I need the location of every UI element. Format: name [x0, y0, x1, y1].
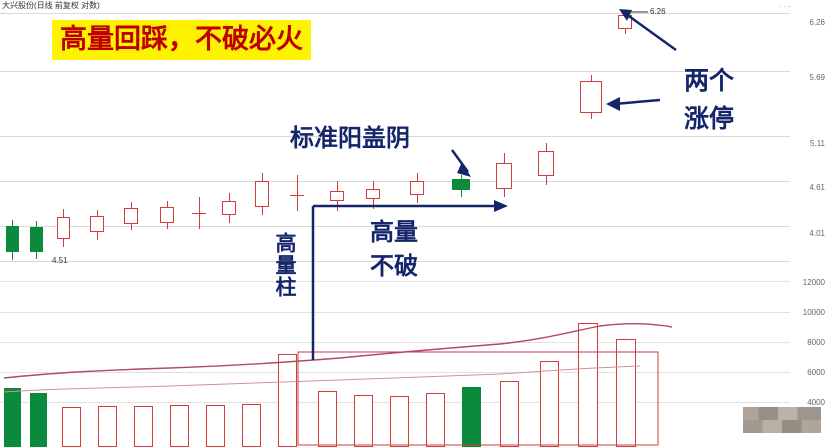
volume-bar	[98, 406, 117, 447]
volume-bar	[540, 361, 559, 447]
annotation-two-limit-ups-line2: 涨停	[684, 100, 734, 138]
window-titlebar: 大兴股份(日线 前复权 对数) ···	[0, 0, 829, 11]
volume-bar	[616, 339, 636, 447]
volume-tick: 10000	[803, 308, 825, 317]
candle-standard-yang-cover-yin	[452, 179, 470, 190]
candle	[290, 189, 304, 203]
candle	[330, 191, 344, 201]
mosaic-watermark	[743, 407, 821, 433]
annotation-standard-yang-cover-yin: 标准阳盖阴	[290, 118, 410, 153]
candle	[538, 151, 554, 176]
headline-banner: 高量回踩，不破必火	[52, 20, 311, 60]
candle-limit-up-1	[580, 81, 602, 113]
candle	[222, 201, 236, 215]
candle	[410, 181, 424, 195]
annotation-high-volume-bar: 高量柱	[272, 232, 298, 298]
candle	[57, 217, 70, 239]
volume-bar	[30, 393, 47, 447]
volume-bar	[170, 405, 189, 447]
candle	[124, 208, 138, 224]
volume-bar	[462, 387, 481, 447]
volume-bar	[242, 404, 261, 447]
volume-bar	[4, 388, 21, 447]
candle	[90, 216, 104, 232]
gridline	[0, 372, 790, 373]
candle	[366, 189, 380, 199]
volume-bar	[578, 323, 598, 447]
volume-bar	[206, 405, 225, 447]
candle	[496, 163, 512, 189]
price-tick: 5.69	[809, 73, 825, 82]
annotation-two-limit-ups: 两个 涨停	[684, 62, 734, 138]
volume-bar	[134, 406, 153, 447]
volume-chart-pane[interactable]	[0, 268, 790, 447]
price-tag-low: 4.51	[52, 256, 68, 265]
volume-tick: 8000	[807, 338, 825, 347]
price-axis: 6.26 5.69 5.11 4.61 4.01	[790, 11, 829, 268]
window-title: 大兴股份(日线 前复权 对数)	[2, 0, 100, 11]
titlebar-dots: ···	[779, 2, 793, 11]
price-tick: 5.11	[810, 139, 825, 148]
candle-limit-up-2	[618, 15, 632, 29]
volume-bar	[426, 393, 445, 447]
annotation-high-volume-line1: 高量	[370, 215, 418, 249]
volume-bar-high	[278, 354, 297, 447]
price-tick: 4.61	[809, 183, 825, 192]
price-tick: 6.26	[809, 18, 825, 27]
price-tick: 4.01	[809, 229, 825, 238]
volume-bar	[318, 391, 337, 447]
volume-bar	[354, 395, 373, 447]
volume-tick: 4000	[807, 398, 825, 407]
chart-screenshot: 大兴股份(日线 前复权 对数) ···	[0, 0, 829, 447]
candle	[255, 181, 269, 207]
candle	[30, 227, 43, 252]
annotation-high-volume: 高量 不破	[370, 215, 418, 283]
volume-tick: 12000	[803, 278, 825, 287]
candle	[160, 207, 174, 223]
candle	[6, 226, 19, 252]
volume-bar	[390, 396, 409, 447]
volume-bar	[62, 407, 81, 447]
annotation-two-limit-ups-line1: 两个	[684, 62, 734, 100]
gridline	[0, 342, 790, 343]
annotation-high-volume-line2: 不破	[370, 249, 418, 283]
gridline	[0, 312, 790, 313]
volume-bar	[500, 381, 519, 447]
candle	[192, 207, 206, 221]
gridline	[0, 181, 790, 182]
gridline	[0, 71, 790, 72]
price-tag-top: 6.26	[650, 7, 666, 16]
gridline	[0, 13, 790, 14]
volume-tick: 6000	[807, 368, 825, 377]
